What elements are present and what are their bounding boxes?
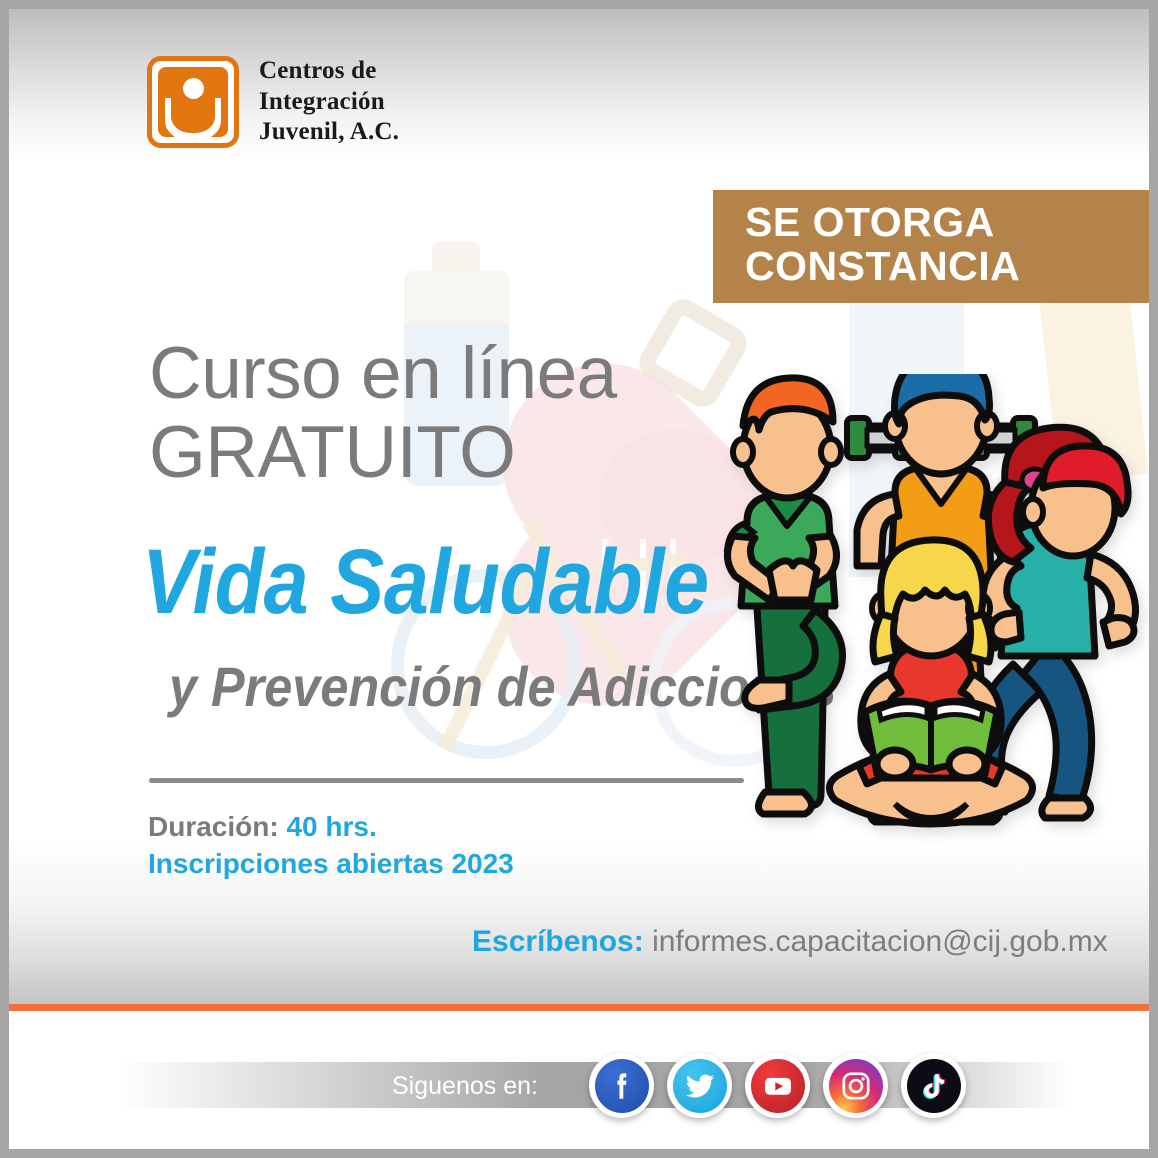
brand-logo: Centros de Integración Juvenil, A.C. <box>147 56 399 148</box>
course-title: Vida Saludable <box>142 536 709 628</box>
figure-man-yoga-tree-pose <box>727 378 843 814</box>
brand-name: Centros de Integración Juvenil, A.C. <box>259 56 399 148</box>
facebook-icon[interactable] <box>589 1053 654 1118</box>
contact-email[interactable]: informes.capacitacion@cij.gob.mx <box>652 925 1108 958</box>
certificate-banner: SE OTORGA CONSTANCIA <box>713 190 1149 303</box>
orange-divider-rule <box>9 1004 1149 1011</box>
brand-name-line-1: Centros de <box>259 56 399 87</box>
contact-line: Escríbenos: informes.capacitacion@cij.go… <box>472 925 1108 959</box>
cij-logo-icon <box>147 56 239 148</box>
enrollment-status: Inscripciones abiertas 2023 <box>148 846 514 883</box>
duration-row: Duración: 40 hrs. <box>148 809 514 846</box>
course-details: Duración: 40 hrs. Inscripciones abiertas… <box>148 809 514 883</box>
contact-label: Escríbenos: <box>472 925 644 958</box>
duration-label: Duración: <box>148 811 279 842</box>
headline-line-2: GRATUITO <box>149 414 617 493</box>
four-people-healthy-lifestyle-illustration <box>709 374 1158 849</box>
brand-name-line-2: Integración <box>259 87 399 118</box>
tiktok-icon[interactable] <box>901 1053 966 1118</box>
youtube-icon[interactable] <box>745 1053 810 1118</box>
duration-value: 40 hrs. <box>286 811 376 842</box>
social-icon-list <box>589 1053 966 1118</box>
brand-name-line-3: Juvenil, A.C. <box>259 117 399 148</box>
course-headline: Curso en línea GRATUITO <box>149 335 617 493</box>
instagram-icon[interactable] <box>823 1053 888 1118</box>
headline-line-1: Curso en línea <box>149 335 617 414</box>
horizontal-divider <box>149 778 744 783</box>
certificate-banner-line-1: SE OTORGA <box>745 200 1149 244</box>
social-follow-label: Siguenos en: <box>392 1072 538 1101</box>
twitter-icon[interactable] <box>667 1053 732 1118</box>
poster-canvas: Centros de Integración Juvenil, A.C. SE … <box>0 0 1158 1158</box>
certificate-banner-line-2: CONSTANCIA <box>745 244 1149 288</box>
